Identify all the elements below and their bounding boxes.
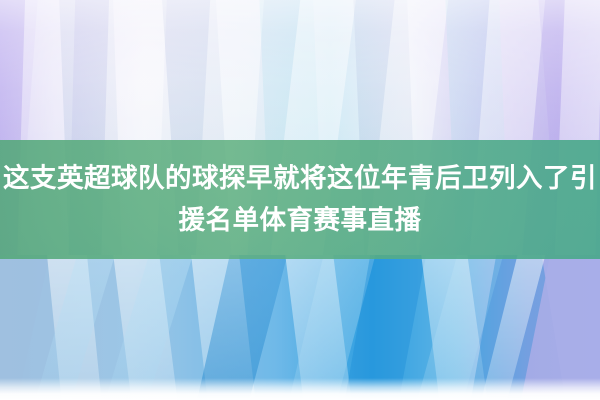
background-bottom-fade bbox=[0, 378, 600, 400]
caption-line-2: 援名单体育赛事直播 bbox=[179, 200, 422, 242]
promo-banner: 这支英超球队的球探早就将这位年青后卫列入了引 援名单体育赛事直播 bbox=[0, 0, 600, 400]
background-top-haze bbox=[0, 0, 600, 145]
caption-band: 这支英超球队的球探早就将这位年青后卫列入了引 援名单体育赛事直播 bbox=[0, 140, 600, 259]
caption-line-1: 这支英超球队的球探早就将这位年青后卫列入了引 bbox=[3, 158, 597, 200]
